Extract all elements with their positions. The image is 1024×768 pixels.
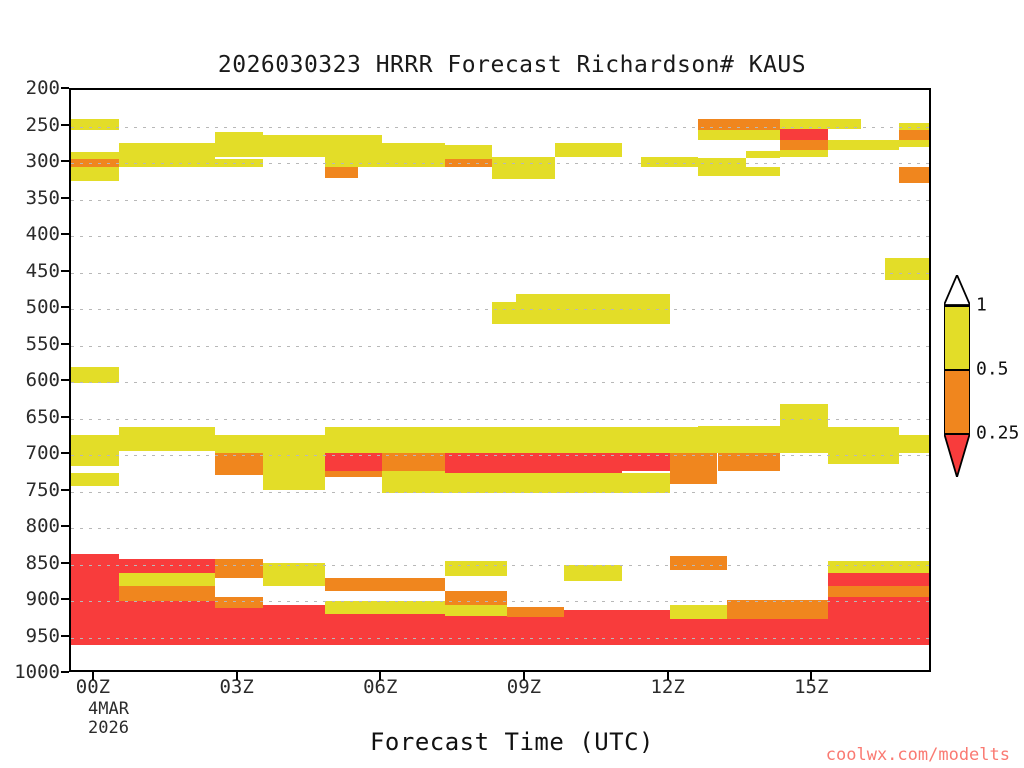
y-tick-label: 800 [0, 515, 60, 537]
y-tick-label: 850 [0, 552, 60, 574]
colorbar-band [944, 369, 970, 433]
y-tick-label: 300 [0, 150, 60, 172]
y-tick-mark [61, 416, 69, 418]
x-tick-mark [810, 672, 812, 680]
colorbar-band [944, 305, 970, 369]
colorbar-tick-label: 1 [976, 295, 987, 316]
y-tick-mark [61, 160, 69, 162]
y-tick-mark [61, 270, 69, 272]
y-tick-label: 550 [0, 333, 60, 355]
colorbar-tick-line [944, 305, 970, 307]
y-tick-label: 350 [0, 187, 60, 209]
y-tick-mark [61, 562, 69, 564]
y-tick-mark [61, 525, 69, 527]
colorbar-tick-label: 0.25 [976, 423, 1019, 444]
y-tick-mark [61, 635, 69, 637]
colorbar-tick-label: 0.5 [976, 359, 1009, 380]
y-tick-label: 950 [0, 625, 60, 647]
y-tick-label: 900 [0, 588, 60, 610]
x-axis: 00Z03Z06Z09Z12Z15Z [0, 676, 1024, 736]
x-tick-mark [523, 672, 525, 680]
y-axis: 2002503003504004505005506006507007508008… [0, 0, 60, 768]
chart-title: 2026030323 HRRR Forecast Richardson# KAU… [0, 52, 1024, 78]
y-tick-mark [61, 306, 69, 308]
y-tick-mark [61, 671, 69, 673]
y-tick-label: 400 [0, 223, 60, 245]
y-tick-label: 500 [0, 296, 60, 318]
x-tick-mark [92, 672, 94, 680]
y-tick-label: 750 [0, 479, 60, 501]
watermark: coolwx.com/modelts [826, 745, 1010, 765]
y-tick-mark [61, 124, 69, 126]
y-tick-mark [61, 379, 69, 381]
colorbar: 10.50.25 [944, 305, 970, 477]
colorbar-tick-line [944, 433, 970, 435]
y-tick-label: 700 [0, 442, 60, 464]
y-tick-label: 650 [0, 406, 60, 428]
y-tick-mark [61, 598, 69, 600]
colorbar-arrow-up-icon [944, 275, 970, 305]
y-tick-label: 250 [0, 114, 60, 136]
y-tick-mark [61, 489, 69, 491]
colorbar-tick-line [944, 369, 970, 371]
y-tick-mark [61, 343, 69, 345]
x-tick-mark [236, 672, 238, 680]
y-tick-label: 200 [0, 77, 60, 99]
y-tick-mark [61, 233, 69, 235]
x-tick-mark [379, 672, 381, 680]
y-tick-mark [61, 87, 69, 89]
y-tick-label: 600 [0, 369, 60, 391]
terrain-band [71, 90, 929, 670]
plot-area [69, 88, 931, 672]
y-tick-mark [61, 452, 69, 454]
y-tick-label: 450 [0, 260, 60, 282]
y-tick-mark [61, 197, 69, 199]
colorbar-arrow-down-icon [944, 433, 970, 477]
x-tick-mark [667, 672, 669, 680]
